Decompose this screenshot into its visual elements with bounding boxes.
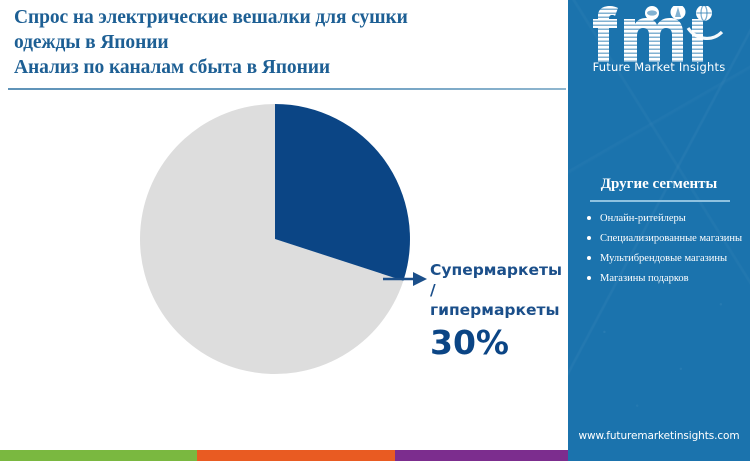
- other-segments-list: Онлайн-ритейлеры Специализированные мага…: [586, 212, 744, 292]
- list-item: Специализированные магазины: [586, 232, 744, 245]
- callout-arrow-icon: [383, 268, 429, 290]
- page-title-line-2: одежды в Японии: [14, 32, 169, 54]
- pie-chart: [138, 102, 412, 376]
- bottom-color-bar: [0, 450, 568, 461]
- callout-supermarkets: Супермаркеты / гипермаркеты 30%: [430, 260, 565, 360]
- callout-label-line-2: гипермаркеты: [430, 300, 565, 320]
- side-panel-heading: Другие сегменты: [568, 176, 750, 193]
- bullet-icon: [587, 216, 591, 220]
- list-item-label: Магазины подарков: [600, 273, 689, 284]
- bar-segment-purple: [395, 450, 568, 461]
- bar-segment-green: [0, 450, 197, 461]
- callout-label-line-1: Супермаркеты /: [430, 260, 565, 300]
- fmi-wordmark-icon: [592, 6, 726, 62]
- page-subtitle: Анализ по каналам сбыта в Японии: [14, 57, 330, 79]
- list-item-label: Мультибрендовые магазины: [600, 253, 727, 264]
- globe-icons: [645, 6, 712, 21]
- page-title-line-1: Спрос на электрические вешалки для сушки: [14, 7, 408, 29]
- list-item: Магазины подарков: [586, 272, 744, 285]
- bullet-icon: [587, 256, 591, 260]
- header: Спрос на электрические вешалки для сушки…: [0, 0, 568, 92]
- bullet-icon: [587, 236, 591, 240]
- list-item: Мультибрендовые магазины: [586, 252, 744, 265]
- logo-tagline: Future Market Insights: [582, 60, 736, 74]
- list-item: Онлайн-ритейлеры: [586, 212, 744, 225]
- chart-area: Супермаркеты / гипермаркеты 30% Супермар…: [0, 92, 568, 440]
- side-panel: Future Market Insights Другие сегменты О…: [568, 0, 750, 461]
- fmi-logo: Future Market Insights: [582, 6, 736, 82]
- list-item-label: Специализированные магазины: [600, 233, 742, 244]
- side-panel-heading-divider: [590, 200, 730, 202]
- bar-segment-orange: [197, 450, 395, 461]
- bullet-icon: [587, 276, 591, 280]
- list-item-label: Онлайн-ритейлеры: [600, 213, 686, 224]
- callout-value: 30%: [430, 326, 565, 360]
- website-url: www.futuremarketinsights.com: [568, 430, 750, 442]
- header-divider: [8, 88, 566, 90]
- infographic-page: Спрос на электрические вешалки для сушки…: [0, 0, 750, 461]
